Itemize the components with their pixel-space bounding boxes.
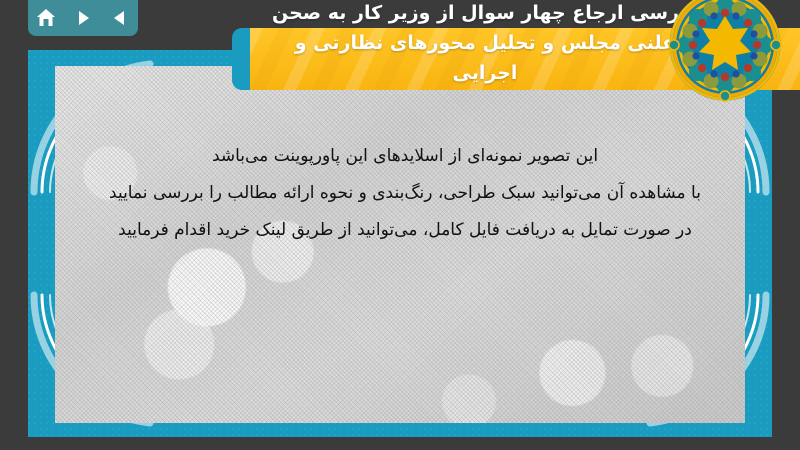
back-button[interactable] <box>107 5 133 31</box>
body-line-2: با مشاهده آن می‌توانید سبک طراحی، رنگ‌بن… <box>60 175 750 212</box>
home-icon <box>35 7 57 29</box>
page-title: بررسی ارجاع چهار سوال از وزیر کار به صحن… <box>250 0 720 88</box>
forward-button[interactable] <box>70 5 96 31</box>
title-line-3: اجرایی <box>250 58 720 88</box>
title-line-1: بررسی ارجاع چهار سوال از وزیر کار به صحن <box>250 0 720 28</box>
home-button[interactable] <box>33 5 59 31</box>
body-line-1: این تصویر نمونه‌ای از اسلایدهای این پاور… <box>60 138 750 175</box>
slide-canvas: این تصویر نمونه‌ای از اسلایدهای این پاور… <box>0 0 800 450</box>
body-line-3: در صورت تمایل به دریافت فایل کامل، می‌تو… <box>60 212 750 249</box>
triangle-right-icon <box>73 8 93 28</box>
triangle-left-icon <box>110 8 130 28</box>
navigation-bar[interactable] <box>28 0 138 36</box>
persian-medallion-icon <box>668 0 782 102</box>
title-line-2: علنی مجلس و تحلیل محورهای نظارتی و <box>250 28 720 58</box>
slide-body-text: این تصویر نمونه‌ای از اسلایدهای این پاور… <box>60 138 750 249</box>
